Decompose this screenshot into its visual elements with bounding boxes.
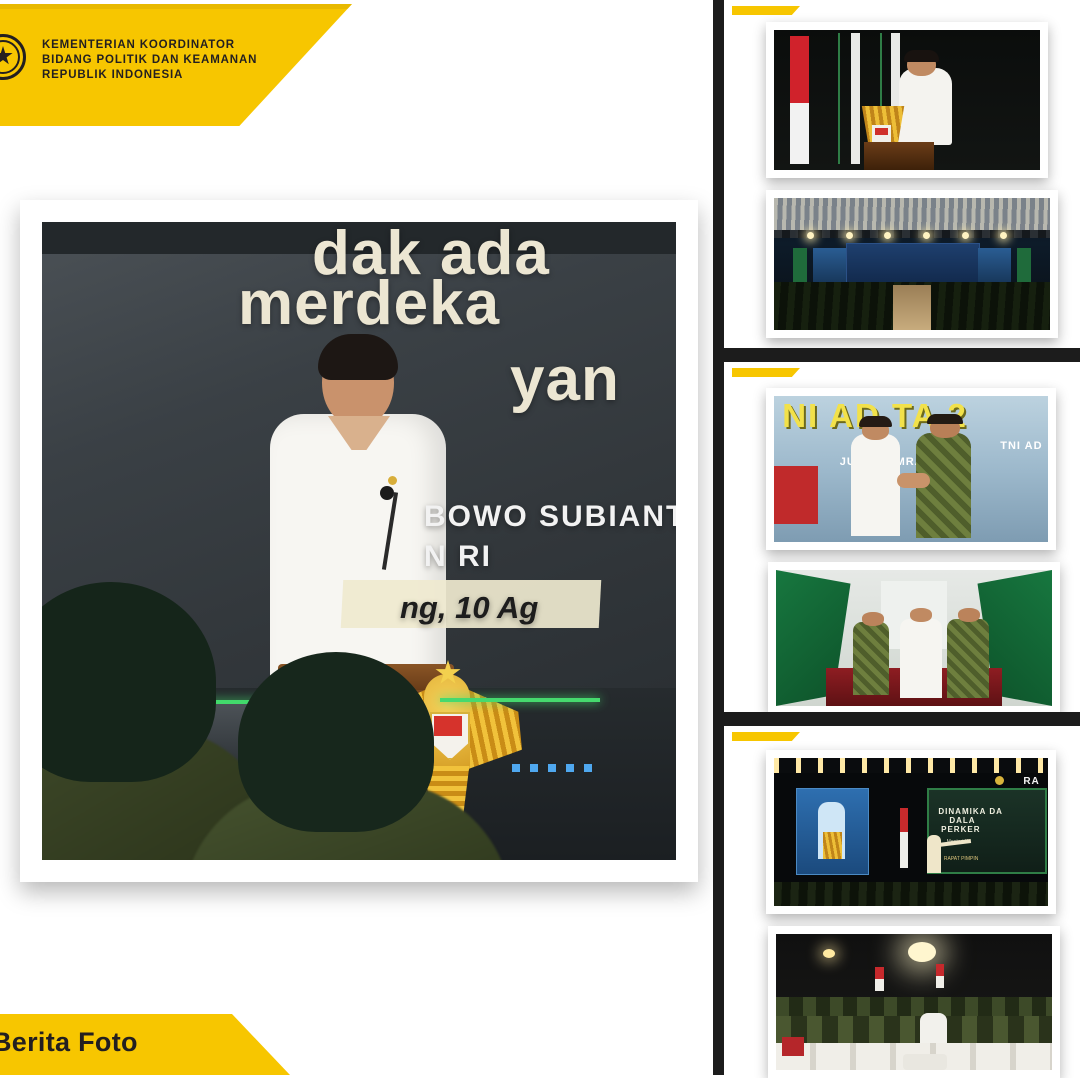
screen-speaker-title: N RI (424, 540, 492, 574)
thumb-corridor-walk-frame (768, 562, 1060, 714)
side-screen-right (978, 248, 1011, 282)
thumb6-flag-right (936, 964, 944, 988)
speaker-lapel-badge (388, 476, 397, 485)
thumb-corridor-walk (776, 570, 1052, 706)
thumb4-officer-right-body (947, 619, 988, 698)
slide-title-line-3: PERKER (941, 825, 980, 834)
thumb-podium-flag-frame (766, 22, 1048, 178)
thumb4-officer-left-head (862, 612, 884, 626)
main-stage-screen (846, 243, 980, 285)
ministry-line-2: BIDANG POLITIK DAN KEAMANAN (42, 53, 257, 68)
panel-divider-one (713, 348, 1080, 362)
screen-text-line-2: merdeka (238, 268, 500, 339)
slide-subtitle-2: RAPAT PIMPIN (944, 856, 978, 862)
thumb-hall-wide (774, 198, 1050, 330)
indonesian-flag-white (790, 103, 809, 165)
stage-led-strip-right (440, 698, 600, 702)
thumb-handshake-frame: NI AD TA 2 TNI AD JUDKAN MRATA ME (766, 388, 1056, 550)
right-column: NI AD TA 2 TNI AD JUDKAN MRATA ME (713, 0, 1080, 1075)
stage-green-panel-left (793, 248, 807, 282)
panel-two: NI AD TA 2 TNI AD JUDKAN MRATA ME (724, 362, 1080, 712)
thumb5-header-text: RA (1023, 776, 1039, 787)
thumb-podium-flag (774, 30, 1040, 170)
thumb5-presenter (927, 835, 941, 873)
thumb4-officer-left-body (853, 622, 889, 695)
panel-one (724, 0, 1080, 348)
thumb3-red-flag (774, 466, 818, 524)
thumb5-led-wall-garuda-icon (823, 832, 842, 859)
main-feature-photo: dak ada merdeka yan BOWO SUBIANT N RI ng… (42, 222, 676, 860)
thumb4-minister-body (900, 619, 941, 698)
panel-divider-two (713, 712, 1080, 726)
panel-three: RA DINAMIKA DA DALA PERKER Menteri Ko RA… (724, 726, 1080, 1075)
footer-label: Berita Foto (0, 1027, 138, 1058)
thumb1-garuda-shield-red (875, 128, 888, 135)
left-column: KEMENTERIAN KOORDINATOR BIDANG POLITIK D… (0, 0, 713, 1075)
header-banner-accent-line (0, 4, 352, 9)
center-aisle (893, 285, 932, 330)
thumb-handshake: NI AD TA 2 TNI AD JUDKAN MRATA ME (774, 396, 1048, 542)
screen-date-text: ng, 10 Ag (400, 590, 538, 626)
stage-light-dots (512, 764, 596, 772)
thumb-hall-wide-frame (766, 190, 1058, 338)
screen-speaker-name: BOWO SUBIANT (424, 500, 676, 534)
thumb6-side-light (823, 949, 835, 958)
thumb4-officer-right-head (958, 608, 980, 622)
thumb1-podium (864, 142, 933, 170)
backdrop-white-panel-1 (851, 33, 860, 165)
thumb5-header-emblem-icon (995, 776, 1004, 785)
thumb3-person-white-hair (859, 416, 892, 426)
stage-green-panel-right (1017, 248, 1031, 282)
ministry-line-1: KEMENTERIAN KOORDINATOR (42, 38, 257, 53)
panel-two-tab (732, 368, 800, 377)
thumb1-speaker-shirt (899, 68, 952, 145)
ministry-name-block: KEMENTERIAN KOORDINATOR BIDANG POLITIK D… (42, 38, 257, 83)
garuda-emblem-logo (0, 34, 26, 80)
thumb5-flag-white (900, 832, 908, 868)
garuda-shield-red-field (434, 716, 462, 736)
thumb6-red-drape (782, 1037, 804, 1056)
screen-text-line-3: yan (510, 344, 620, 415)
audience-silhouette-head-right (238, 652, 434, 832)
main-photo-frame: dak ada merdeka yan BOWO SUBIANT N RI ng… (20, 200, 698, 882)
panel-one-tab (732, 6, 800, 15)
thumb5-audience-row (774, 882, 1048, 906)
hall-lighting-truss (774, 230, 1050, 238)
thumb-seated-audience (776, 934, 1052, 1070)
spotlight-5 (962, 232, 969, 239)
backdrop-green-stripe-1 (838, 33, 840, 165)
thumb5-top-light-row (774, 758, 1048, 773)
thumb6-flag-left (875, 967, 883, 991)
thumb3-person-white-body (851, 434, 900, 536)
side-screen-left (813, 248, 846, 282)
thumb-seated-audience-frame (768, 926, 1060, 1078)
thumb1-speaker-hair (904, 50, 939, 63)
microphone-head-icon (380, 486, 394, 500)
handshake-gesture (897, 473, 930, 488)
thumb-stage-slide: RA DINAMIKA DA DALA PERKER Menteri Ko RA… (774, 758, 1048, 906)
ministry-line-3: REPUBLIK INDONESIA (42, 68, 257, 83)
slide-title-line-2: DALA (949, 816, 975, 825)
thumb6-coffee-table (903, 1054, 947, 1070)
speaker-hair (318, 334, 398, 380)
thumb3-person-camo-hair (927, 414, 963, 424)
hall-ceiling (774, 198, 1050, 230)
backdrop-subtitle-right: TNI AD (1000, 440, 1042, 452)
panel-three-tab (732, 732, 800, 741)
thumb4-minister-head (910, 608, 932, 622)
thumb6-audience-front-row (776, 1016, 1052, 1046)
slide-title-line-1: DINAMIKA DA (938, 807, 1002, 816)
thumb-stage-slide-frame: RA DINAMIKA DA DALA PERKER Menteri Ko RA… (766, 750, 1056, 914)
vertical-divider (713, 0, 724, 1075)
speaker-figure (270, 340, 446, 700)
